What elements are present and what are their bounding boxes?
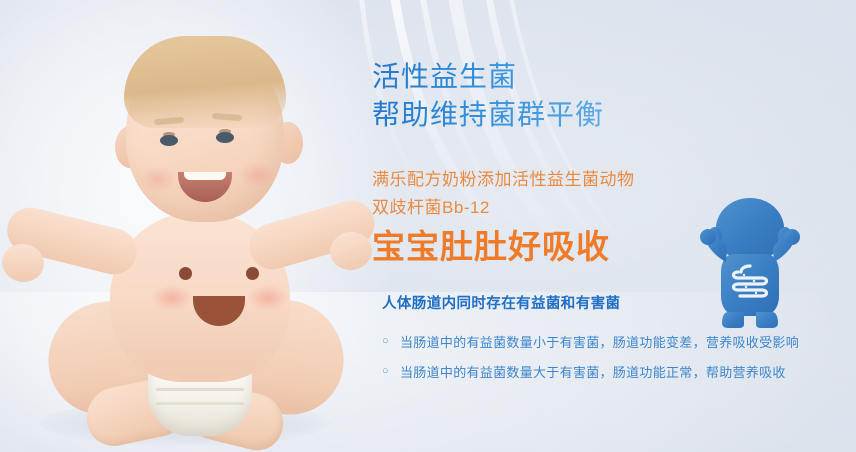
belly-smiley-eye-right <box>246 267 259 280</box>
subheadline-line-2: 双歧杆菌Bb-12 <box>372 194 635 222</box>
baby-cheek-right <box>240 162 276 188</box>
bullet-text: 当肠道中的有益菌数量大于有害菌，肠道功能正常，帮助营养吸收 <box>400 362 786 381</box>
baby-silhouette-icon <box>694 196 806 328</box>
list-item: ○ 当肠道中的有益菌数量小于有害菌，肠道功能变差，营养吸收受影响 <box>382 326 852 356</box>
tagline: 宝宝肚肚好吸收 <box>372 226 610 268</box>
bullet-list: ○ 当肠道中的有益菌数量小于有害菌，肠道功能变差，营养吸收受影响 ○ 当肠道中的… <box>382 326 852 386</box>
bullet-circle-icon: ○ <box>382 366 400 377</box>
list-item: ○ 当肠道中的有益菌数量大于有害菌，肠道功能正常，帮助营养吸收 <box>382 356 852 386</box>
baby-cheek-left <box>140 166 176 192</box>
subheadline-line-1: 满乐配方奶粉添加活性益生菌动物 <box>372 166 635 194</box>
belly-smiley-eye-left <box>179 267 192 280</box>
belly-cheek-right <box>248 285 288 311</box>
baby-photo <box>0 0 370 452</box>
probiotic-formula-banner: 活性益生菌 帮助维持菌群平衡 满乐配方奶粉添加活性益生菌动物 双歧杆菌Bb-12… <box>0 0 856 452</box>
headline-line-1: 活性益生菌 <box>372 58 604 96</box>
headline: 活性益生菌 帮助维持菌群平衡 <box>372 58 604 134</box>
bullet-circle-icon: ○ <box>382 336 400 347</box>
mascot-baby-silhouette <box>694 196 806 328</box>
baby-eye-left <box>160 135 178 146</box>
bullet-text: 当肠道中的有益菌数量小于有害菌，肠道功能变差，营养吸收受影响 <box>400 332 799 351</box>
belly-cheek-left <box>152 285 192 311</box>
headline-line-2: 帮助维持菌群平衡 <box>372 96 604 134</box>
baby-eye-right <box>216 132 234 143</box>
subheadline: 满乐配方奶粉添加活性益生菌动物 双歧杆菌Bb-12 <box>372 166 635 222</box>
baby-hair <box>124 36 286 128</box>
section-title: 人体肠道内同时存在有益菌和有害菌 <box>382 292 620 313</box>
